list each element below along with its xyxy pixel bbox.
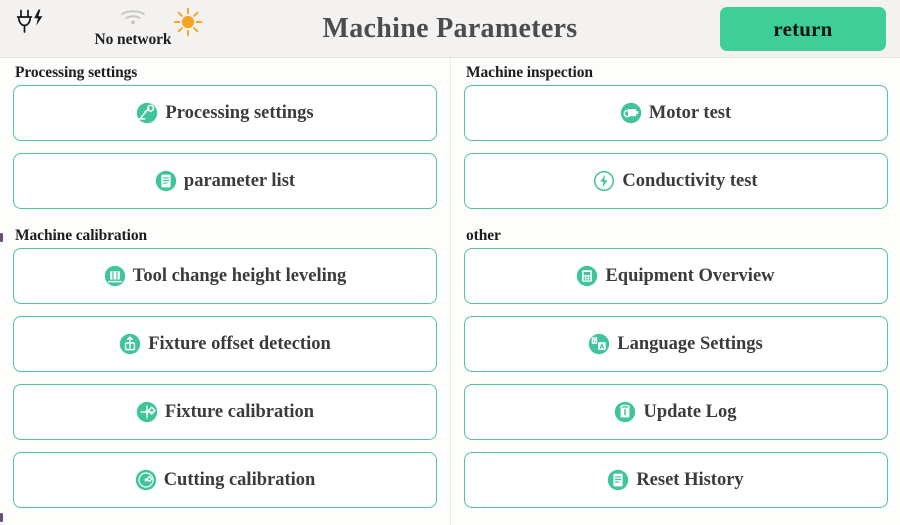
tile-cutting-calibration[interactable]: Cutting calibration bbox=[13, 452, 437, 508]
right-column: Machine inspection Motor test bbox=[450, 58, 900, 525]
lightning-circle-icon bbox=[593, 170, 615, 192]
tile-fixture-offset-detection[interactable]: Fixture offset detection bbox=[13, 316, 437, 372]
section-title-processing-settings: Processing settings bbox=[11, 58, 439, 85]
concentric-target-icon bbox=[135, 469, 157, 491]
tile-conductivity-test[interactable]: Conductivity test bbox=[464, 153, 888, 209]
tile-label: Reset History bbox=[636, 470, 743, 491]
language-translate-icon bbox=[588, 333, 610, 355]
motor-icon bbox=[620, 102, 642, 124]
tile-parameter-list[interactable]: parameter list bbox=[13, 153, 437, 209]
tile-processing-settings[interactable]: Processing settings bbox=[13, 85, 437, 141]
tile-label: Processing settings bbox=[165, 103, 313, 124]
device-overview-icon bbox=[576, 265, 598, 287]
tile-label: Language Settings bbox=[617, 334, 762, 355]
left-column: Processing settings Processing set bbox=[0, 58, 450, 525]
tile-motor-test[interactable]: Motor test bbox=[464, 85, 888, 141]
section-title-other: other bbox=[462, 221, 889, 248]
tool-height-icon bbox=[104, 265, 126, 287]
tile-equipment-overview[interactable]: Equipment Overview bbox=[464, 248, 888, 304]
tile-label: Update Log bbox=[643, 402, 736, 423]
machine-arm-icon bbox=[136, 102, 158, 124]
edge-marker bbox=[0, 513, 3, 522]
tile-label: Fixture offset detection bbox=[148, 334, 331, 355]
tile-label: Tool change height leveling bbox=[133, 266, 347, 287]
tile-label: parameter list bbox=[184, 171, 295, 192]
settings-content: Processing settings Processing set bbox=[0, 58, 900, 525]
tile-label: Equipment Overview bbox=[605, 266, 774, 287]
top-status-bar: No network bbox=[0, 0, 900, 58]
edge-marker bbox=[0, 233, 3, 242]
tile-label: Motor test bbox=[649, 103, 731, 124]
tile-update-log[interactable]: Update Log bbox=[464, 384, 888, 440]
section-title-machine-inspection: Machine inspection bbox=[462, 58, 889, 85]
tile-label: Fixture calibration bbox=[165, 402, 314, 423]
tile-label: Cutting calibration bbox=[164, 470, 316, 491]
document-list-icon bbox=[155, 170, 177, 192]
tile-reset-history[interactable]: Reset History bbox=[464, 452, 888, 508]
machine-parameters-screen: No network bbox=[0, 0, 900, 525]
tile-label: Conductivity test bbox=[622, 171, 757, 192]
tile-fixture-calibration[interactable]: Fixture calibration bbox=[13, 384, 437, 440]
tile-tool-change-height-leveling[interactable]: Tool change height leveling bbox=[13, 248, 437, 304]
tile-language-settings[interactable]: Language Settings bbox=[464, 316, 888, 372]
history-document-icon bbox=[607, 469, 629, 491]
update-info-icon bbox=[614, 401, 636, 423]
return-button[interactable]: return bbox=[720, 7, 886, 51]
fixture-offset-icon bbox=[119, 333, 141, 355]
section-title-machine-calibration: Machine calibration bbox=[11, 221, 439, 248]
crosshair-target-icon bbox=[136, 401, 158, 423]
